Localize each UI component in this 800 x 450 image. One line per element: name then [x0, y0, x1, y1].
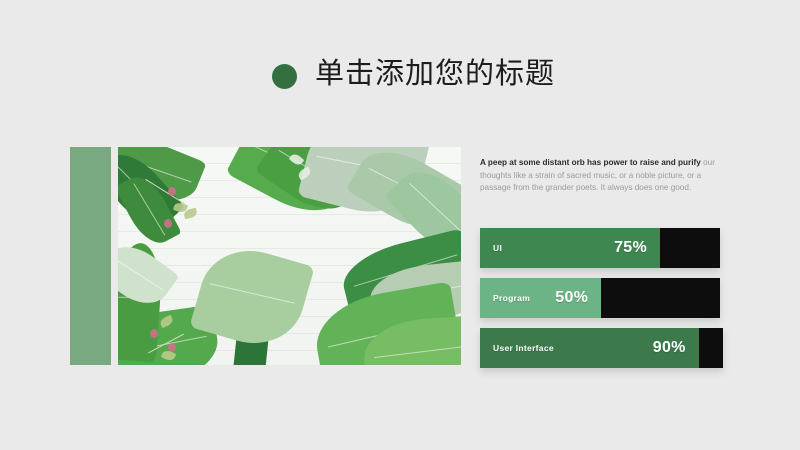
skill-bar-track — [699, 328, 723, 368]
skill-bar-chart: UI 75% Program 50% User Interface 90% — [480, 228, 723, 378]
leaf-photo-panel — [118, 147, 461, 365]
berry-icon — [164, 219, 172, 228]
body-paragraph: A peep at some distant orb has power to … — [480, 157, 726, 194]
skill-bar-fill: UI 75% — [480, 228, 660, 268]
slide-canvas: 单击添加您的标题 — [0, 0, 800, 450]
berry-icon — [150, 329, 158, 338]
skill-bar-value: 50% — [555, 289, 588, 307]
skill-bar-label: User Interface — [493, 343, 554, 353]
bullet-circle-icon — [272, 64, 297, 89]
left-accent-bar — [70, 147, 111, 365]
skill-bar-value: 75% — [614, 239, 647, 257]
paragraph-lead: A peep at some distant orb has power to … — [480, 158, 701, 167]
page-title: 单击添加您的标题 — [272, 58, 555, 90]
skill-bar-track — [601, 278, 720, 318]
page-title-text: 单击添加您的标题 — [315, 58, 555, 90]
berry-icon — [168, 187, 176, 196]
skill-bar-label: UI — [493, 243, 502, 253]
skill-bar-value: 90% — [653, 339, 686, 357]
skill-bar-fill: User Interface 90% — [480, 328, 699, 368]
skill-bar-row[interactable]: UI 75% — [480, 228, 720, 268]
skill-bar-row[interactable]: Program 50% — [480, 278, 720, 318]
skill-bar-track — [660, 228, 720, 268]
skill-bar-fill: Program 50% — [480, 278, 601, 318]
skill-bar-row[interactable]: User Interface 90% — [480, 328, 723, 368]
skill-bar-label: Program — [493, 293, 530, 303]
